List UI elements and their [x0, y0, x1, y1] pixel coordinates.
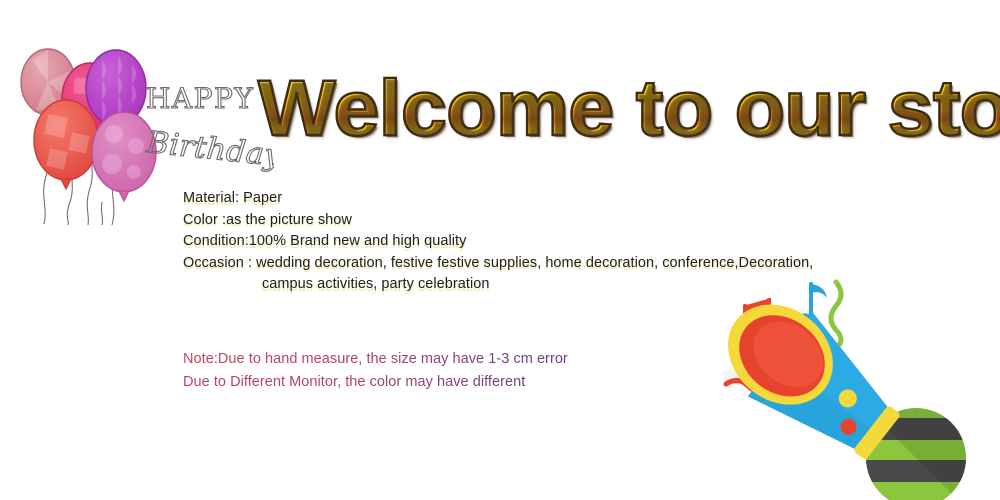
balloon-red: [34, 100, 98, 189]
party-horn-svg: [718, 276, 1000, 500]
spec-line-occasion: Occasion : wedding decoration, festive f…: [183, 253, 923, 275]
note-line-measure: Note:Due to hand measure, the size may h…: [183, 348, 623, 371]
spec-text-condition: Condition:100% Brand new and high qualit…: [183, 233, 466, 249]
spec-text-occasion: Occasion : wedding decoration, festive f…: [183, 255, 813, 271]
spec-line-color: Color :as the picture show Color :as the…: [183, 210, 923, 232]
spec-line-condition: Condition:100% Brand new and high qualit…: [183, 231, 923, 253]
party-horn-image: [718, 276, 1000, 500]
spec-text-material: Material: Paper: [183, 190, 282, 206]
balloon-rose: [92, 112, 156, 201]
spec-text-color: Color :as the picture show: [183, 212, 352, 228]
spec-text-occasion-continued: campus activities, party celebration: [262, 276, 489, 292]
spec-line-material: Material: Paper Material: Paper: [183, 188, 923, 210]
store-banner: HAPPY Birthday Welcome to our store Mate…: [0, 0, 1000, 500]
page-headline: Welcome to our store: [258, 62, 1000, 154]
disclaimer-note-block: Note:Due to hand measure, the size may h…: [183, 348, 703, 394]
note-line-monitor: Due to Different Monitor, the color may …: [183, 371, 573, 394]
